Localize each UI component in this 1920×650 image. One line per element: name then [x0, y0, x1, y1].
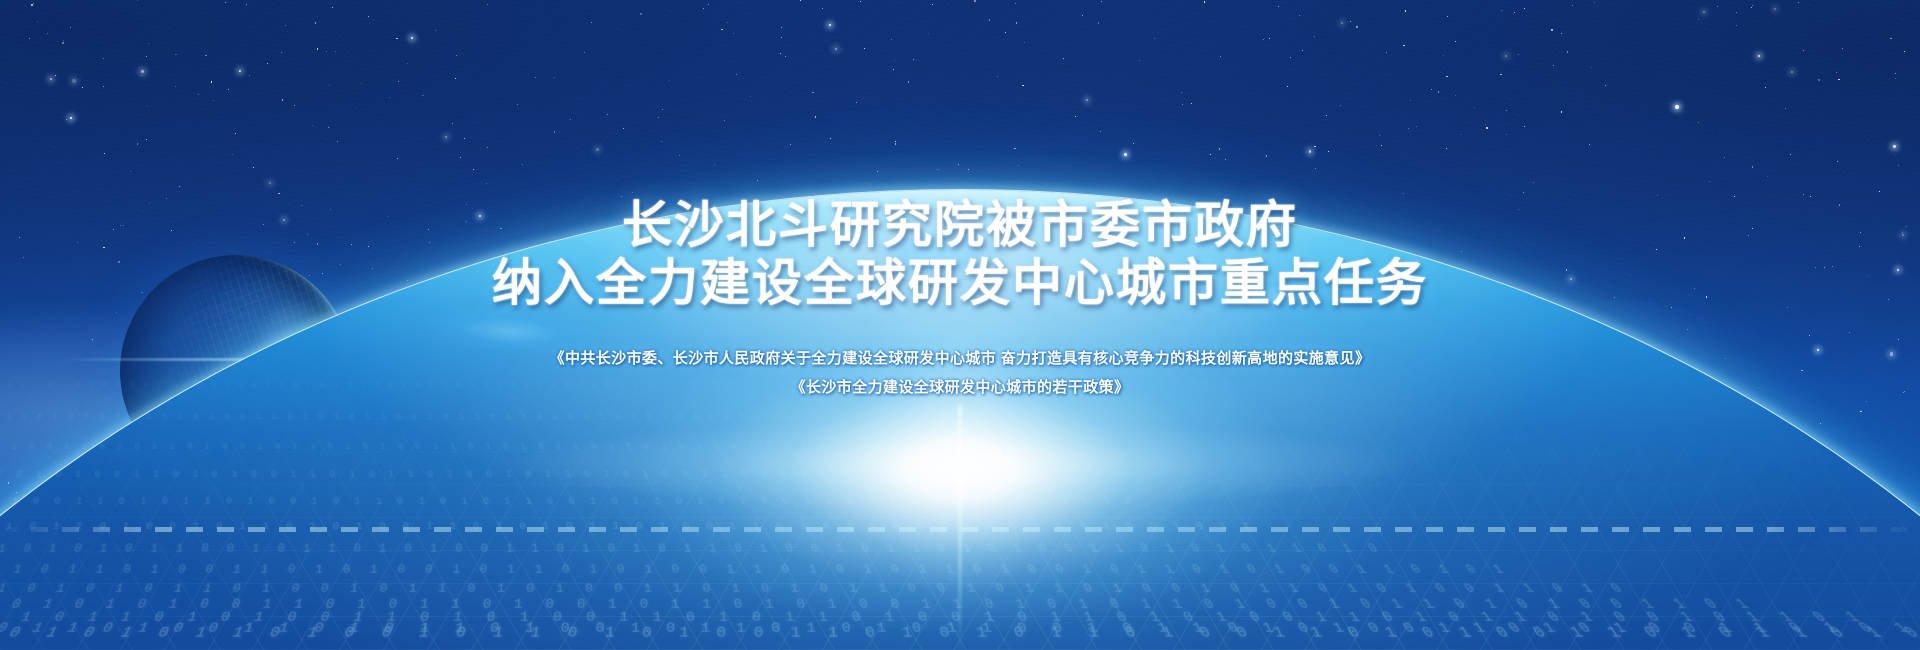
- star-dot: [281, 52, 282, 53]
- star-dot: [72, 79, 75, 82]
- star-dot: [708, 4, 709, 5]
- star-dot: [1567, 51, 1568, 52]
- star-dot: [130, 171, 131, 172]
- star-dot: [1798, 2, 1799, 3]
- star-dot: [82, 87, 83, 88]
- star-dot: [1803, 194, 1804, 195]
- star-dot: [703, 8, 704, 9]
- star-dot: [1703, 11, 1705, 13]
- star-dot: [1455, 41, 1456, 42]
- star-dot: [812, 92, 813, 93]
- star-dot: [317, 48, 318, 49]
- star-dot: [1015, 3, 1016, 4]
- star-dot: [1403, 45, 1404, 46]
- star-dot: [1506, 110, 1507, 111]
- star-dot: [47, 33, 48, 34]
- star-dot: [1086, 99, 1088, 101]
- star-dot: [1842, 48, 1843, 49]
- star-dot: [232, 154, 233, 155]
- star-dot: [1266, 155, 1267, 156]
- star-dot: [1818, 79, 1819, 80]
- star-dot: [205, 55, 206, 56]
- star-dot: [422, 95, 423, 96]
- star-dot: [1561, 33, 1562, 34]
- star-dot: [335, 51, 336, 52]
- star-dot: [148, 43, 149, 44]
- subtitle-line-1: 《中共长沙市委、长沙市人民政府关于全力建设全球研发中心城市 奋力打造具有核心竞争…: [0, 344, 1920, 373]
- star-dot: [332, 7, 333, 8]
- star-dot: [315, 22, 316, 23]
- star-dot: [1075, 116, 1076, 117]
- star-dot: [1269, 38, 1270, 39]
- star-dot: [1752, 5, 1753, 6]
- star-dot: [225, 2, 226, 3]
- star-dot: [1904, 51, 1905, 52]
- star-dot: [1299, 15, 1300, 16]
- star-dot: [1416, 126, 1417, 127]
- star-dot: [908, 81, 909, 82]
- star-dot: [932, 4, 933, 5]
- star-dot: [455, 78, 456, 79]
- star-dot: [1785, 108, 1786, 109]
- star-dot: [517, 104, 518, 105]
- star-dot: [736, 74, 737, 75]
- star-dot: [1893, 145, 1896, 148]
- star-dot: [1386, 52, 1387, 53]
- star-dot: [326, 51, 327, 52]
- headline-line-2: 纳入全力建设全球研发中心城市重点任务: [0, 254, 1920, 312]
- star-dot: [1594, 2, 1595, 3]
- star-dot: [1356, 26, 1357, 27]
- star-dot: [486, 183, 487, 184]
- star-dot: [1016, 22, 1017, 23]
- star-dot: [1803, 50, 1804, 51]
- star-dot: [137, 143, 138, 144]
- star-dot: [179, 186, 180, 187]
- star-dot: [1736, 25, 1737, 26]
- star-dot: [658, 117, 659, 118]
- star-dot: [1133, 143, 1134, 144]
- headline-line-1: 长沙北斗研究院被市委市政府: [622, 197, 1298, 253]
- star-dot: [727, 22, 728, 23]
- star-dot: [29, 38, 30, 39]
- star-dot: [596, 148, 599, 151]
- star-dot: [662, 109, 663, 110]
- star-dot: [337, 141, 338, 142]
- star-dot: [1698, 122, 1699, 123]
- star-dot: [780, 53, 781, 54]
- star-dot: [1513, 14, 1514, 15]
- star-dot: [893, 69, 894, 70]
- star-dot: [1350, 21, 1351, 22]
- star-dot: [33, 3, 34, 4]
- star-dot: [1204, 1, 1205, 2]
- star-dot: [1315, 168, 1316, 169]
- star-dot: [750, 96, 751, 97]
- star-dot: [1431, 89, 1432, 90]
- star-dot: [790, 144, 791, 145]
- star-dot: [141, 70, 144, 73]
- star-dot: [1524, 126, 1525, 127]
- star-dot: [822, 8, 823, 9]
- star-dot: [1572, 5, 1573, 6]
- star-dot: [1837, 161, 1838, 162]
- star-dot: [928, 33, 929, 34]
- star-dot: [407, 63, 408, 64]
- star-dot: [1447, 16, 1448, 17]
- star-dot: [239, 71, 240, 72]
- star-dot: [1751, 7, 1752, 8]
- star-dot: [661, 141, 662, 142]
- star-dot: [1139, 60, 1140, 61]
- star-dot: [1752, 166, 1753, 167]
- star-dot: [724, 120, 725, 121]
- star-dot: [445, 136, 447, 138]
- star-dot: [640, 13, 641, 14]
- star-dot: [1518, 54, 1519, 55]
- star-dot: [1219, 148, 1220, 149]
- star-dot: [864, 48, 865, 49]
- star-dot: [66, 119, 67, 120]
- star-dot: [554, 131, 555, 132]
- star-dot: [294, 105, 295, 106]
- star-dot: [997, 76, 998, 77]
- star-dot: [989, 19, 990, 20]
- star-dot: [361, 83, 362, 84]
- star-dot: [1890, 38, 1891, 39]
- star-dot: [456, 55, 457, 56]
- star-dot: [228, 89, 229, 90]
- star-dot: [1220, 56, 1221, 57]
- star-dot: [104, 153, 105, 154]
- star-dot: [1553, 65, 1554, 66]
- star-dot: [329, 85, 330, 86]
- star-dot: [1551, 29, 1552, 30]
- star-dot: [1561, 111, 1562, 112]
- star-dot: [70, 117, 72, 119]
- star-dot: [607, 114, 608, 115]
- star-dot: [781, 27, 782, 28]
- star-dot: [785, 56, 786, 57]
- star-dot: [397, 158, 398, 159]
- star-dot: [891, 39, 892, 40]
- star-dot: [1709, 181, 1710, 182]
- star-dot: [1022, 85, 1023, 86]
- star-dot: [62, 42, 63, 43]
- star-dot: [198, 94, 199, 95]
- star-dot: [267, 63, 268, 64]
- star-dot: [1505, 55, 1507, 57]
- star-dot: [1314, 146, 1315, 147]
- star-dot: [1736, 12, 1737, 13]
- star-dot: [70, 27, 71, 28]
- star-dot: [1191, 103, 1192, 104]
- star-dot: [141, 75, 142, 76]
- star-dot: [1523, 192, 1524, 193]
- star-dot: [584, 52, 585, 53]
- star-dot: [1341, 22, 1343, 24]
- star-dot: [1675, 105, 1678, 108]
- star-dot: [1100, 131, 1101, 132]
- star-dot: [278, 193, 279, 194]
- star-dot: [175, 54, 176, 55]
- star-dot: [249, 75, 250, 76]
- star-dot: [1895, 78, 1896, 79]
- star-dot: [452, 123, 453, 124]
- star-dot: [211, 81, 212, 82]
- star-dot: [535, 77, 536, 78]
- star-dot: [1717, 6, 1718, 7]
- star-dot: [1774, 8, 1776, 10]
- star-dot: [1181, 92, 1182, 93]
- banner-subtitles: 《中共长沙市委、长沙市人民政府关于全力建设全球研发中心城市 奋力打造具有核心竞争…: [0, 344, 1920, 402]
- star-dot: [1154, 38, 1155, 39]
- star-dot: [835, 48, 837, 50]
- star-dot: [487, 147, 488, 148]
- star-dot: [435, 30, 436, 31]
- star-dot: [312, 125, 313, 126]
- star-dot: [368, 16, 369, 17]
- star-dot: [1063, 58, 1064, 59]
- star-dot: [1501, 10, 1502, 11]
- star-dot: [1328, 151, 1329, 152]
- star-dot: [1290, 57, 1291, 58]
- star-dot: [103, 58, 104, 59]
- star-dot: [974, 0, 975, 1]
- star-dot: [733, 33, 734, 34]
- subtitle-line-2: 《长沙市全力建设全球研发中心城市的若干政策》: [0, 373, 1920, 402]
- star-dot: [570, 119, 571, 120]
- star-dot: [1405, 10, 1406, 11]
- star-dot: [37, 21, 38, 22]
- star-dot: [1314, 36, 1315, 37]
- star-dot: [285, 25, 286, 26]
- star-dot: [1446, 76, 1447, 77]
- banner-content: 长沙北斗研究院被市委市政府 纳入全力建设全球研发中心城市重点任务 《中共长沙市委…: [0, 196, 1920, 402]
- star-dot: [1514, 12, 1515, 13]
- star-dot: [389, 97, 390, 98]
- hero-banner: 0 1 0 1 1 0 1 0 0 1 0 1 1 1 0 1 0 0 1 0 …: [0, 0, 1920, 650]
- star-dot: [800, 0, 801, 1]
- star-dot: [31, 4, 32, 5]
- star-dot: [895, 143, 896, 144]
- star-dot: [1101, 1, 1102, 2]
- star-dot: [1724, 157, 1725, 158]
- star-dot: [213, 100, 214, 101]
- star-dot: [103, 86, 104, 87]
- star-dot: [1182, 104, 1183, 105]
- star-dot: [1460, 134, 1461, 135]
- star-dot: [396, 38, 397, 39]
- star-dot: [473, 169, 474, 170]
- star-dot: [1024, 42, 1025, 43]
- star-dot: [1591, 67, 1592, 68]
- star-dot: [1698, 19, 1699, 20]
- star-dot: [1005, 32, 1006, 33]
- star-dot: [398, 81, 399, 82]
- star-dot: [1836, 72, 1837, 73]
- star-dot: [913, 59, 914, 60]
- star-dot: [856, 102, 857, 103]
- star-dot: [1838, 79, 1839, 80]
- star-dot: [1790, 154, 1791, 155]
- star-dot: [1278, 6, 1279, 7]
- star-dot: [63, 40, 64, 41]
- star-dot: [460, 157, 461, 158]
- star-dot: [1309, 150, 1311, 152]
- banner-headline: 长沙北斗研究院被市委市政府 纳入全力建设全球研发中心城市重点任务: [0, 196, 1920, 312]
- star-dot: [328, 127, 329, 128]
- star-dot: [1379, 135, 1380, 136]
- star-dot: [239, 70, 241, 72]
- star-dot: [1287, 86, 1288, 87]
- star-dot: [1758, 55, 1760, 57]
- star-dot: [781, 37, 782, 38]
- star-dot: [1500, 74, 1501, 75]
- star-dot: [1486, 127, 1487, 128]
- star-dot: [623, 128, 624, 129]
- star-dot: [522, 164, 523, 165]
- star-dot: [1605, 85, 1606, 86]
- star-dot: [894, 60, 895, 61]
- star-dot: [1302, 50, 1303, 51]
- star-dot: [1898, 165, 1899, 166]
- star-dot: [1506, 134, 1507, 135]
- star-dot: [175, 86, 176, 87]
- star-dot: [1381, 145, 1382, 146]
- star-dot: [146, 56, 147, 57]
- star-dot: [591, 22, 592, 23]
- star-dot: [1082, 15, 1083, 16]
- star-dot: [721, 29, 722, 30]
- star-dot: [1879, 191, 1880, 192]
- star-dot: [860, 1, 861, 2]
- star-dot: [1210, 154, 1211, 155]
- star-dot: [1485, 124, 1486, 125]
- star-dot: [487, 4, 488, 5]
- star-dot: [1326, 115, 1327, 116]
- star-dot: [829, 24, 831, 26]
- star-dot: [1410, 100, 1411, 101]
- star-dot: [1408, 128, 1409, 129]
- star-dot: [1455, 95, 1456, 96]
- star-dot: [1791, 71, 1793, 73]
- star-dot: [269, 182, 271, 184]
- star-dot: [253, 167, 254, 168]
- star-dot: [147, 106, 148, 107]
- star-dot: [1446, 148, 1447, 149]
- star-dot: [815, 116, 816, 117]
- star-dot: [1474, 107, 1475, 108]
- star-dot: [464, 138, 465, 139]
- star-dot: [669, 80, 670, 81]
- star-dot: [50, 78, 52, 80]
- star-dot: [1340, 105, 1341, 106]
- star-dot: [830, 138, 831, 139]
- star-dot: [554, 77, 555, 78]
- star-dot: [1438, 91, 1439, 92]
- star-dot: [1895, 73, 1896, 74]
- star-dot: [1263, 39, 1264, 40]
- star-dot: [1533, 182, 1534, 183]
- star-dot: [1765, 87, 1766, 88]
- star-dot: [1767, 176, 1768, 177]
- star-dot: [246, 4, 247, 5]
- star-dot: [55, 75, 56, 76]
- star-dot: [411, 37, 413, 39]
- star-dot: [1524, 8, 1525, 9]
- star-dot: [235, 133, 236, 134]
- star-dot: [1589, 144, 1590, 145]
- star-dot: [895, 141, 896, 142]
- star-dot: [679, 155, 680, 156]
- star-dot: [137, 0, 138, 1]
- star-dot: [1443, 55, 1444, 56]
- star-dot: [282, 99, 283, 100]
- star-dot: [146, 139, 147, 140]
- star-dot: [1098, 22, 1099, 23]
